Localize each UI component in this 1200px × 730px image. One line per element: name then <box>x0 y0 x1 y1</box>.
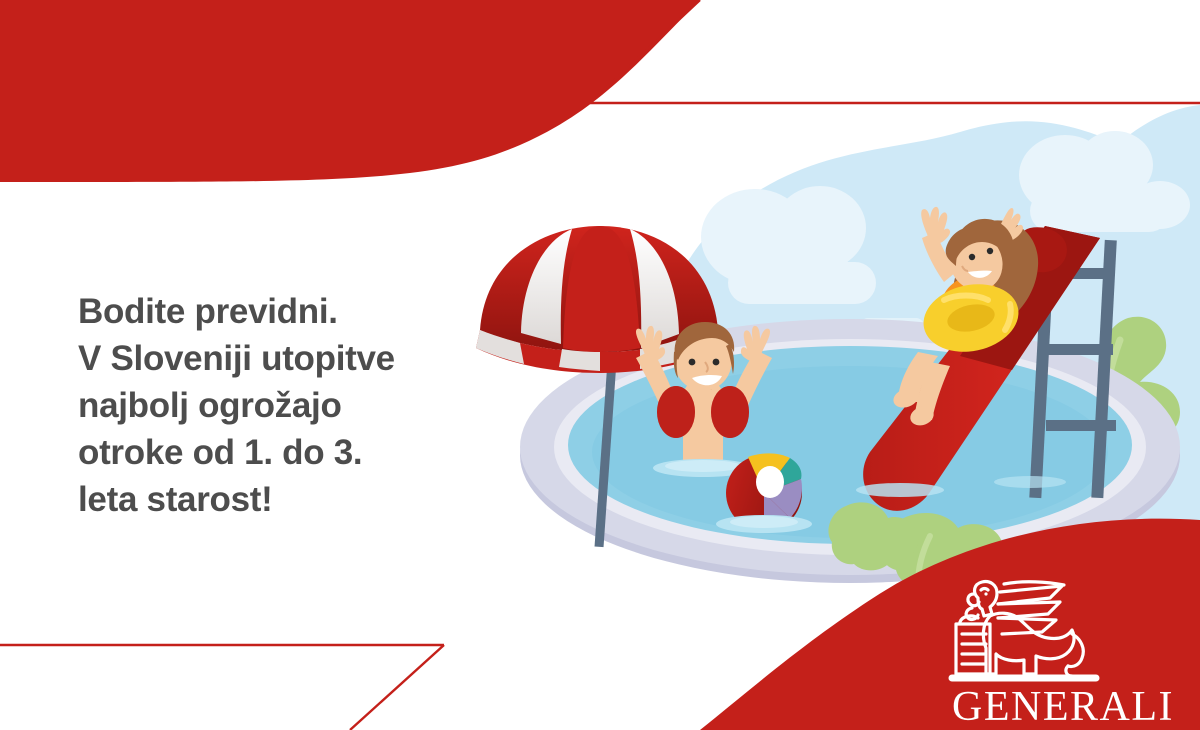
generali-safety-banner: GENERALI Bodite previdni. V Sloveniji ut… <box>0 0 1200 730</box>
water-ripple <box>856 483 944 497</box>
water-ripple <box>994 476 1066 488</box>
generali-wordmark: GENERALI <box>952 684 1174 730</box>
headline-text: Bodite previdni. V Sloveniji utopitve na… <box>78 288 478 523</box>
